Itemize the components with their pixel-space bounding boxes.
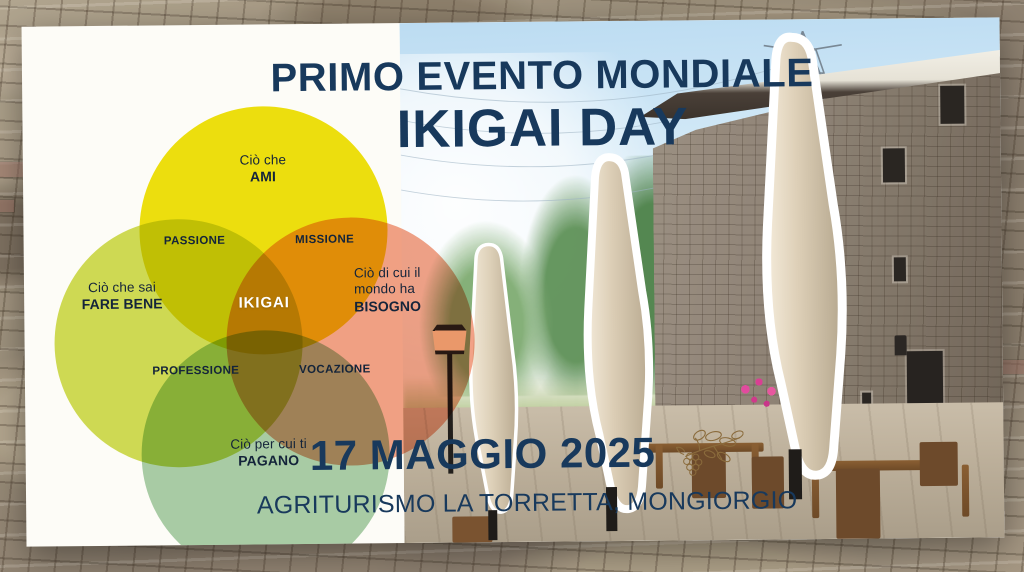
venn-label-missione: MISSIONE xyxy=(272,233,378,246)
venn-label-passione: PASSIONE xyxy=(142,235,248,248)
table-leg xyxy=(962,465,969,517)
window xyxy=(940,85,964,123)
event-venue: AGRITURISMO LA TORRETTA, MONGIORGIO xyxy=(222,486,832,521)
footer-block: 17 MAGGIO 2025 xyxy=(221,425,832,521)
poster-stage: Ciò che AMI Ciò che sai FARE BENE Ciò di… xyxy=(0,0,1024,572)
headline-top-line: PRIMO EVENTO MONDIALE xyxy=(212,53,872,100)
window xyxy=(894,257,906,281)
wall-lamp-icon xyxy=(895,335,907,355)
venn-label-fare-bene: Ciò che sai FARE BENE xyxy=(60,279,184,314)
chair xyxy=(920,442,958,486)
grape-olive-branch-icon xyxy=(669,426,743,479)
flyer-card: Ciò che AMI Ciò che sai FARE BENE Ciò di… xyxy=(22,17,1005,546)
event-date: 17 MAGGIO 2025 xyxy=(310,432,656,477)
headline-block: PRIMO EVENTO MONDIALE IKIGAI DAY xyxy=(212,53,873,159)
venn-label-vocazione: VOCAZIONE xyxy=(277,363,393,376)
venn-label-ikigai: IKIGAI xyxy=(204,294,324,312)
venn-label-professione: PROFESSIONE xyxy=(133,364,259,377)
page-title: IKIGAI DAY xyxy=(212,97,872,158)
venn-label-bisogno: Ciò di cui il mondo ha BISOGNO xyxy=(354,265,460,316)
